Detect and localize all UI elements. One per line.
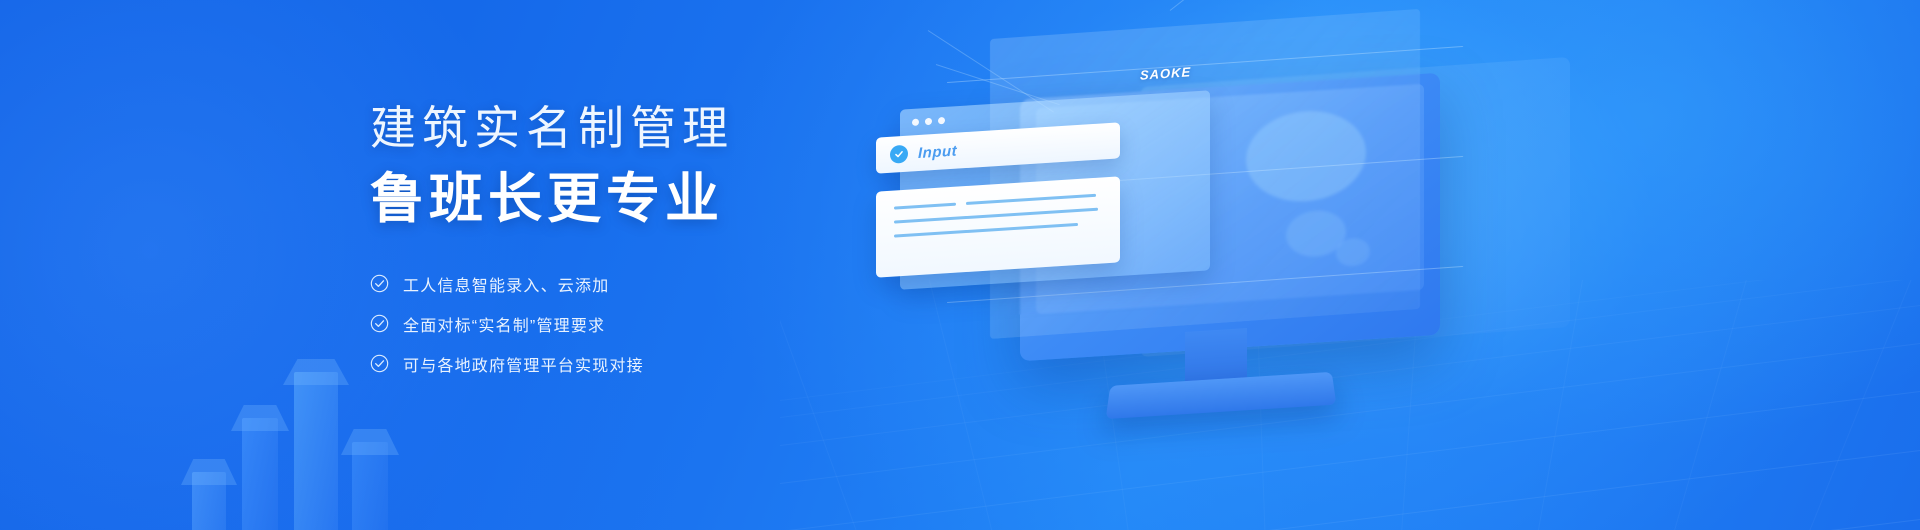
headline-secondary: 鲁班长更专业: [370, 164, 890, 234]
feature-text: 可与各地政府管理平台实现对接: [403, 352, 644, 376]
bar: [294, 372, 338, 530]
bar: [192, 472, 226, 530]
light-ray: [1170, 0, 1265, 11]
window-controls-icon: [912, 117, 945, 126]
doc-line: [894, 203, 956, 210]
feature-text: 工人信息智能录入、云添加: [403, 272, 609, 296]
bar-chart-icon: [170, 330, 390, 530]
input-card-label: Input: [918, 142, 957, 161]
bar-top: [341, 429, 399, 455]
list-item: 可与各地政府管理平台实现对接: [370, 352, 890, 376]
list-item: 工人信息智能录入、云添加: [370, 272, 890, 296]
feature-list: 工人信息智能录入、云添加 全面对标“实名制”管理要求: [370, 272, 890, 376]
bar-top: [283, 359, 349, 385]
check-circle-icon: [370, 354, 389, 373]
monitor-base: [1106, 372, 1337, 419]
document-card: [876, 176, 1120, 277]
check-circle-icon: [370, 314, 389, 333]
list-item: 全面对标“实名制”管理要求: [370, 312, 890, 336]
check-circle-icon: [370, 274, 389, 293]
banner-copy: 建筑实名制管理 鲁班长更专业 工人信息智能录入、云添加: [370, 100, 890, 392]
promo-banner: 建筑实名制管理 鲁班长更专业 工人信息智能录入、云添加: [0, 0, 1920, 530]
desktop-monitor-icon: Input SAOKE: [840, 0, 1920, 530]
doc-line: [966, 194, 1096, 205]
feature-text: 全面对标“实名制”管理要求: [403, 312, 605, 336]
bar: [242, 418, 278, 530]
headline-primary: 建筑实名制管理: [370, 100, 890, 158]
bar-top: [181, 459, 237, 485]
bar: [352, 442, 388, 530]
bar-top: [231, 405, 289, 431]
doc-line: [894, 223, 1078, 238]
check-circle-icon: [890, 145, 908, 164]
